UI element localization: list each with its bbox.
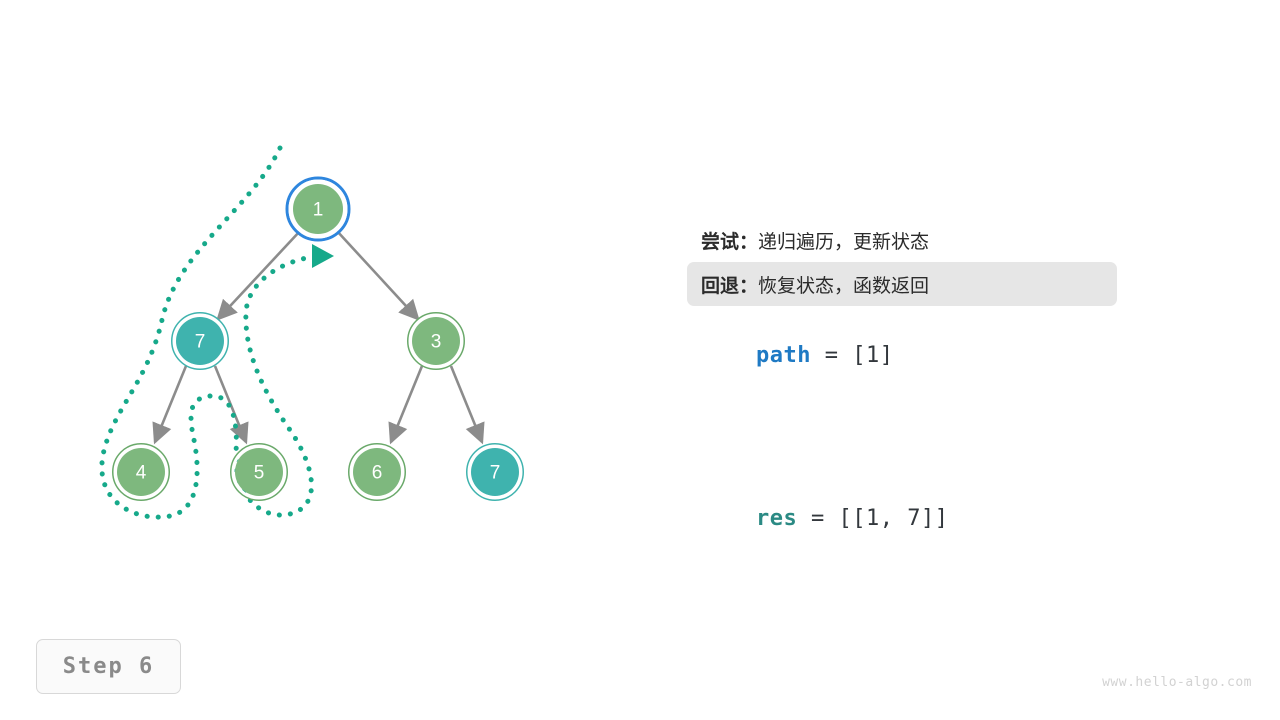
res-variable-name: res xyxy=(756,506,797,531)
node-5-label: 5 xyxy=(254,463,265,484)
node-7-left-label: 7 xyxy=(195,332,206,353)
edge-1-to-3 xyxy=(337,231,418,319)
edge-3-to-6 xyxy=(391,366,422,442)
trace-arrowhead-icon xyxy=(312,244,334,268)
node-4-label: 4 xyxy=(136,463,147,484)
step-badge: Step 6 xyxy=(36,639,181,694)
res-assign-operator: = xyxy=(797,506,838,531)
res-value: [[1, 7]] xyxy=(838,506,948,531)
action-try-text: 递归遍历，更新状态 xyxy=(758,227,929,254)
watermark-text: www.hello-algo.com xyxy=(1102,675,1252,690)
action-try-label: 尝试： xyxy=(701,227,758,254)
path-assign-operator: = xyxy=(811,343,852,368)
action-line-try: 尝试： 递归遍历，更新状态 xyxy=(687,218,1117,262)
edge-1-to-7 xyxy=(218,231,300,319)
edge-7-to-4 xyxy=(155,366,186,442)
tree-node-3[interactable]: 3 xyxy=(408,313,464,369)
tree-node-1[interactable]: 1 xyxy=(287,178,349,240)
node-1-label: 1 xyxy=(313,200,324,221)
path-value: [1] xyxy=(852,343,893,368)
watermark: www.hello-algo.com xyxy=(1102,675,1252,690)
res-state-line: res = [[1, 7]] xyxy=(687,481,1117,556)
step-badge-label: Step 6 xyxy=(63,654,154,679)
info-panel: 尝试： 递归遍历，更新状态 回退： 恢复状态，函数返回 path = [1] r… xyxy=(687,218,1117,556)
path-variable-name: path xyxy=(756,343,811,368)
path-state-line: path = [1] xyxy=(687,318,1117,393)
edge-3-to-7 xyxy=(451,366,482,442)
tree-node-4[interactable]: 4 xyxy=(113,444,169,500)
tree-node-6[interactable]: 6 xyxy=(349,444,405,500)
action-line-backtrack: 回退： 恢复状态，函数返回 xyxy=(687,262,1117,306)
tree-node-7-left[interactable]: 7 xyxy=(172,313,228,369)
tree-svg-canvas: 1 7 3 4 5 xyxy=(0,0,660,720)
node-3-label: 3 xyxy=(431,332,442,353)
action-backtrack-text: 恢复状态，函数返回 xyxy=(758,271,929,298)
tree-node-7-right[interactable]: 7 xyxy=(467,444,523,500)
tree-node-5[interactable]: 5 xyxy=(231,444,287,500)
binary-tree-diagram: 1 7 3 4 5 xyxy=(0,0,660,720)
action-backtrack-label: 回退： xyxy=(701,271,758,298)
node-6-label: 6 xyxy=(372,463,383,484)
node-7-right-label: 7 xyxy=(490,463,501,484)
